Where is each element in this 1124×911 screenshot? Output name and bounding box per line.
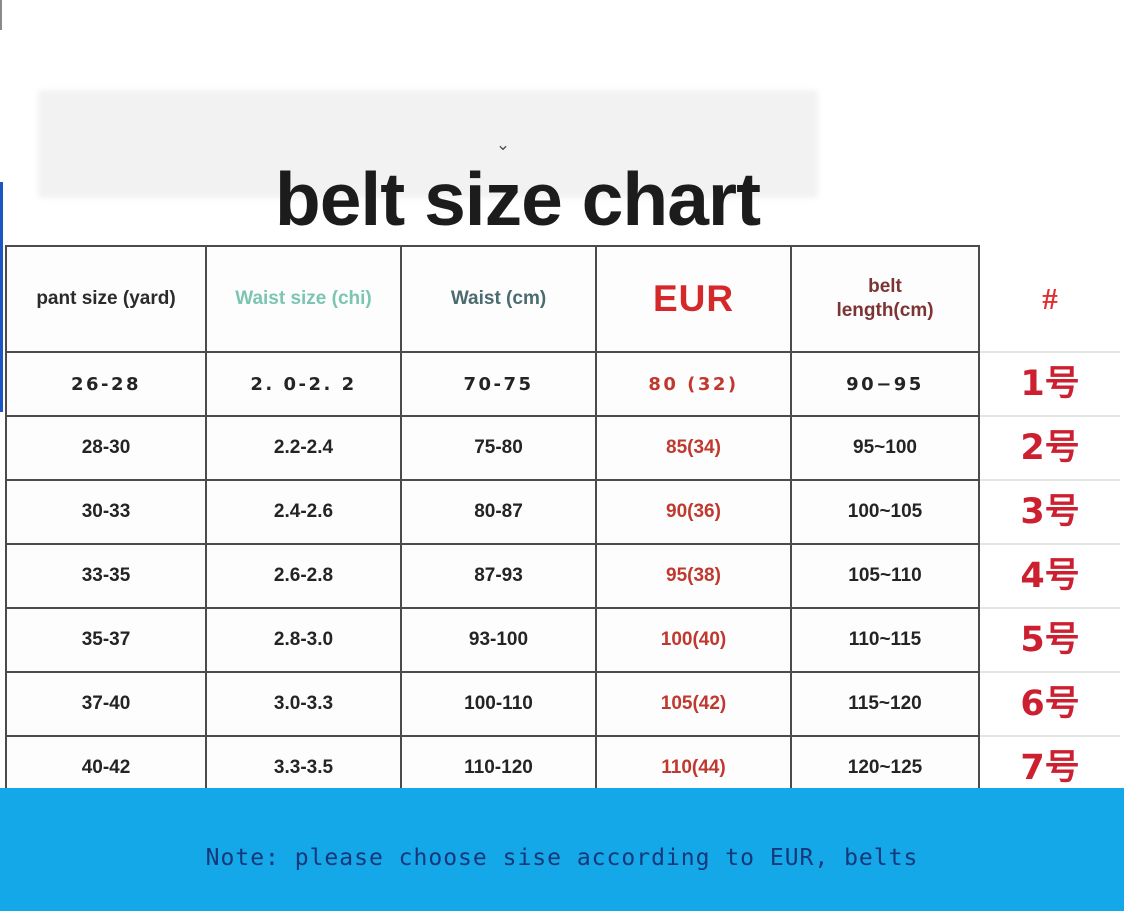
size-chart-container: pant size (yard) Waist size (chi) Waist … (5, 245, 1119, 801)
cell-belt-length: 90−95 (791, 352, 979, 416)
cell-waist-chi: 2. 0-2. 2 (206, 352, 401, 416)
cell-waist-cm: 100-110 (401, 672, 596, 736)
cell-eur: 80 (32) (596, 352, 791, 416)
chevron-down-icon: ⌄ (492, 138, 514, 152)
cell-hao: 1号 (979, 352, 1120, 416)
cell-waist-chi: 2.2-2.4 (206, 416, 401, 480)
cell-belt-length: 105~110 (791, 544, 979, 608)
note-text: Note: please choose sise according to EU… (0, 845, 1124, 871)
header-waist-cm: Waist (cm) (401, 246, 596, 352)
cell-belt-length: 95~100 (791, 416, 979, 480)
cell-eur: 95(38) (596, 544, 791, 608)
cell-waist-cm: 75-80 (401, 416, 596, 480)
header-waist-chi: Waist size (chi) (206, 246, 401, 352)
cell-waist-cm: 70-75 (401, 352, 596, 416)
cell-pant-size: 35-37 (6, 608, 206, 672)
cell-pant-size: 28-30 (6, 416, 206, 480)
top-left-edge-mark (0, 0, 2, 30)
table-row: 28-30 2.2-2.4 75-80 85(34) 95~100 2号 (6, 416, 1120, 480)
header-pant-size: pant size (yard) (6, 246, 206, 352)
cell-waist-cm: 80-87 (401, 480, 596, 544)
header-hash-icon: # (979, 246, 1120, 352)
cell-waist-chi: 3.0-3.3 (206, 672, 401, 736)
header-eur: EUR (596, 246, 791, 352)
cell-hao: 6号 (979, 672, 1120, 736)
page-title: belt size chart (0, 156, 1035, 242)
cell-hao: 3号 (979, 480, 1120, 544)
cell-eur: 90(36) (596, 480, 791, 544)
cell-pant-size: 26-28 (6, 352, 206, 416)
table-row: 30-33 2.4-2.6 80-87 90(36) 100~105 3号 (6, 480, 1120, 544)
header-belt-length-line1: belt (792, 275, 978, 299)
cell-eur: 105(42) (596, 672, 791, 736)
cell-eur: 85(34) (596, 416, 791, 480)
cell-belt-length: 100~105 (791, 480, 979, 544)
belt-size-table: pant size (yard) Waist size (chi) Waist … (5, 245, 1120, 801)
cell-eur: 100(40) (596, 608, 791, 672)
cell-pant-size: 30-33 (6, 480, 206, 544)
table-row: 33-35 2.6-2.8 87-93 95(38) 105~110 4号 (6, 544, 1120, 608)
table-body: 26-28 2. 0-2. 2 70-75 80 (32) 90−95 1号 2… (6, 352, 1120, 800)
header-belt-length-line2: length(cm) (792, 299, 978, 323)
cell-belt-length: 110~115 (791, 608, 979, 672)
title-area: ⌄ belt size chart (0, 60, 1124, 230)
cell-belt-length: 115~120 (791, 672, 979, 736)
cell-waist-cm: 93-100 (401, 608, 596, 672)
table-header: pant size (yard) Waist size (chi) Waist … (6, 246, 1120, 352)
cell-waist-cm: 87-93 (401, 544, 596, 608)
table-row: 37-40 3.0-3.3 100-110 105(42) 115~120 6号 (6, 672, 1120, 736)
cell-pant-size: 33-35 (6, 544, 206, 608)
cell-hao: 2号 (979, 416, 1120, 480)
cell-waist-chi: 2.8-3.0 (206, 608, 401, 672)
cell-pant-size: 37-40 (6, 672, 206, 736)
cell-waist-chi: 2.6-2.8 (206, 544, 401, 608)
cell-hao: 5号 (979, 608, 1120, 672)
table-row: 35-37 2.8-3.0 93-100 100(40) 110~115 5号 (6, 608, 1120, 672)
cell-hao: 4号 (979, 544, 1120, 608)
table-row: 26-28 2. 0-2. 2 70-75 80 (32) 90−95 1号 (6, 352, 1120, 416)
header-belt-length: belt length(cm) (791, 246, 979, 352)
header-row: pant size (yard) Waist size (chi) Waist … (6, 246, 1120, 352)
cell-waist-chi: 2.4-2.6 (206, 480, 401, 544)
